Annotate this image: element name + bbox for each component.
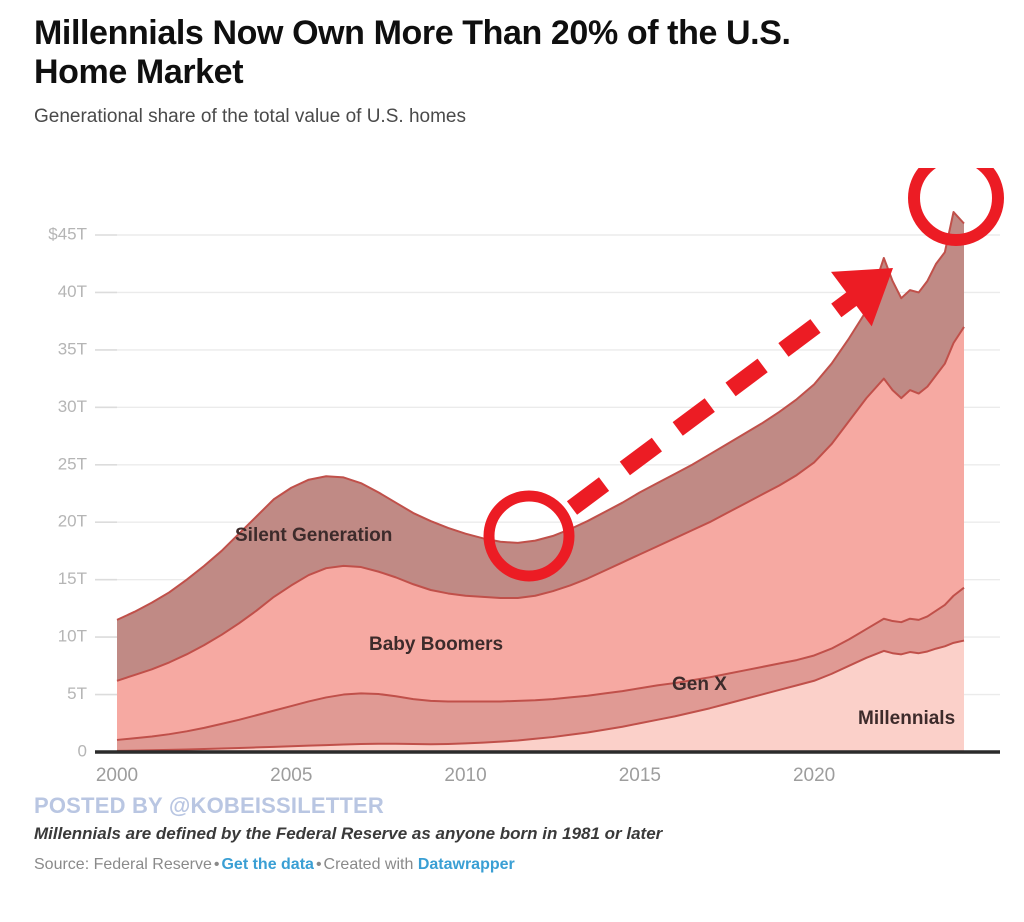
page-title: Millennials Now Own More Than 20% of the… <box>34 14 864 92</box>
ytick-label-25: 25T <box>58 454 87 473</box>
definition-note: Millennials are defined by the Federal R… <box>34 824 994 844</box>
ytick-label-0: 0 <box>78 741 87 760</box>
footer: POSTED BY @KOBEISSILETTER Millennials ar… <box>34 794 994 874</box>
xtick-label-2020: 2020 <box>793 765 835 786</box>
y-axis-labels-group: 05T10T15T20T25T30T35T40T$45T <box>48 224 87 760</box>
created-with-label: Created with <box>324 856 414 873</box>
xtick-label-2000: 2000 <box>96 765 138 786</box>
series-label-baby-boomers: Baby Boomers <box>369 634 503 655</box>
infographic-page: Millennials Now Own More Than 20% of the… <box>0 0 1024 922</box>
datawrapper-link[interactable]: Datawrapper <box>418 856 515 873</box>
xtick-label-2005: 2005 <box>270 765 312 786</box>
xtick-label-2015: 2015 <box>619 765 661 786</box>
source-prefix: Source: Federal Reserve <box>34 856 212 873</box>
posted-by-credit: POSTED BY @KOBEISSILETTER <box>34 794 994 818</box>
series-label-silent-generation: Silent Generation <box>235 525 392 546</box>
chart-container: 05T10T15T20T25T30T35T40T$45T 20002005201… <box>0 168 1024 793</box>
xtick-label-2010: 2010 <box>444 765 486 786</box>
ytick-label-40: 40T <box>58 282 87 301</box>
header: Millennials Now Own More Than 20% of the… <box>0 0 1024 128</box>
ytick-label-45: $45T <box>48 224 87 243</box>
series-label-millennials: Millennials <box>858 708 955 729</box>
get-the-data-link[interactable]: Get the data <box>221 856 313 873</box>
ytick-label-10: 10T <box>58 627 87 646</box>
ytick-label-35: 35T <box>58 339 87 358</box>
ytick-label-15: 15T <box>58 569 87 588</box>
x-axis-labels-group: 20002005201020152020 <box>96 765 835 786</box>
page-subtitle: Generational share of the total value of… <box>34 106 990 129</box>
source-line: Source: Federal Reserve•Get the data•Cre… <box>34 855 994 874</box>
ytick-label-20: 20T <box>58 512 87 531</box>
ytick-label-5: 5T <box>67 684 87 703</box>
ytick-label-30: 30T <box>58 397 87 416</box>
top-spacer <box>0 0 1024 4</box>
source-separator-2: • <box>314 856 324 873</box>
stacked-area-chart: 05T10T15T20T25T30T35T40T$45T 20002005201… <box>0 168 1024 793</box>
series-label-gen-x: Gen X <box>672 674 727 695</box>
